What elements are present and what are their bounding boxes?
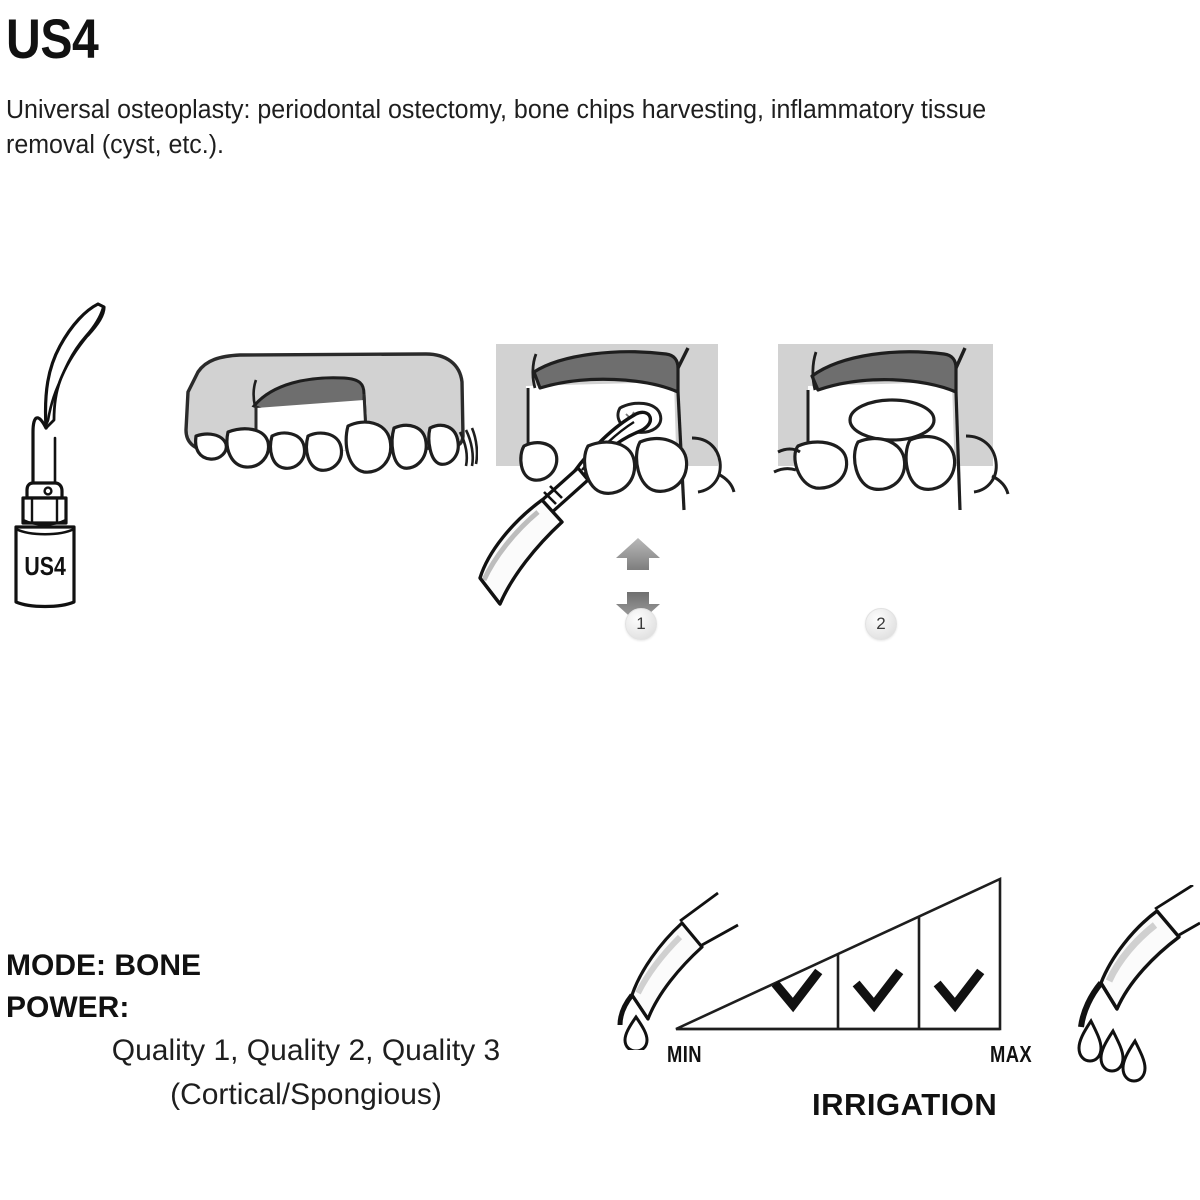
irrigation-max-label: MAX: [990, 1041, 1032, 1068]
bone-cavity-result-diagram: [760, 342, 1010, 652]
handpiece-triple-droplet-icon: [1055, 885, 1200, 1100]
step-badge-2: 2: [865, 608, 897, 640]
irrigation-title: IRRIGATION: [812, 1087, 997, 1123]
irrigation-level-gauge: [610, 865, 1060, 1050]
bone-type-line: (Cortical/Spongious): [6, 1073, 566, 1117]
ultrasonic-tip-us4-icon: US4: [0, 280, 150, 610]
tip-engraved-label: US4: [24, 552, 66, 582]
dental-arch-with-flap-diagram: [168, 340, 478, 520]
power-quality-line: Quality 1, Quality 2, Quality 3: [6, 1029, 566, 1073]
irrigation-min-label: MIN: [667, 1041, 702, 1068]
mode-line: MODE: BONE: [6, 945, 566, 987]
step-badge-1: 1: [625, 608, 657, 640]
page-title: US4: [6, 8, 98, 70]
power-line: POWER:: [6, 987, 566, 1029]
illustration-band: US4: [0, 270, 1200, 670]
settings-block: MODE: BONE POWER: Quality 1, Quality 2, …: [6, 945, 566, 1117]
handpiece-osteoplasty-diagram: [478, 342, 738, 652]
page-description: Universal osteoplasty: periodontal ostec…: [6, 93, 996, 163]
irrigation-block: MIN MAX IRRIGATION: [600, 865, 1200, 1135]
